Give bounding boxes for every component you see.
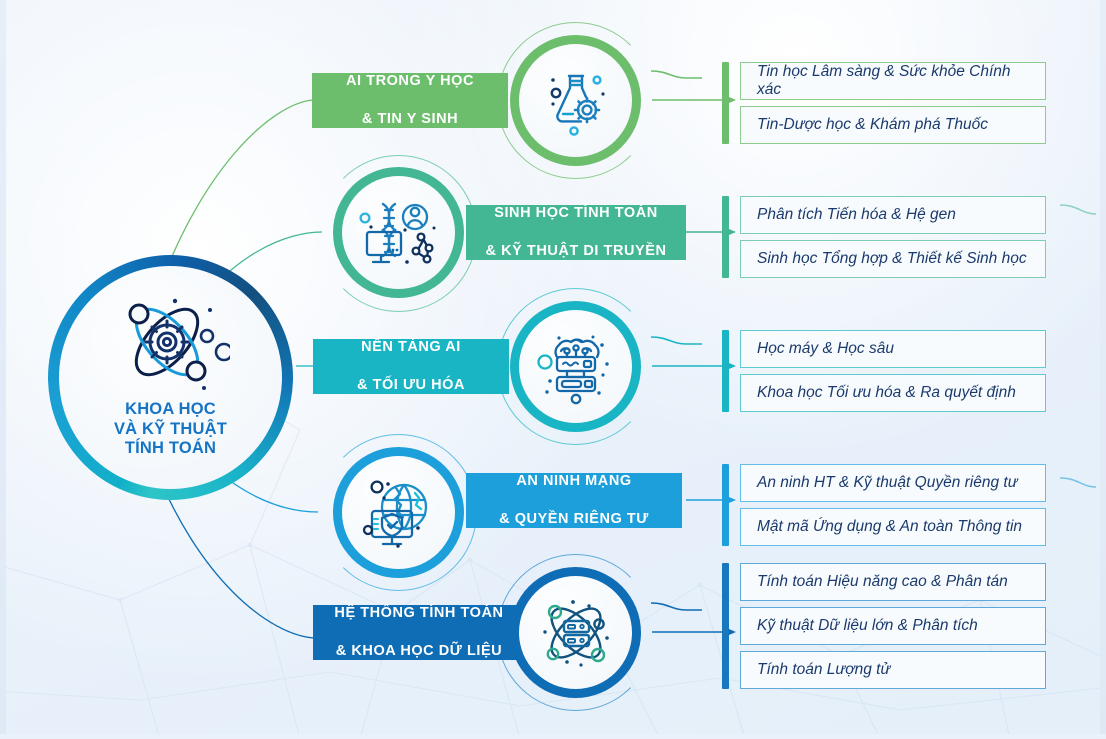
branch-3-accent-bar [722,330,729,412]
branch-5-label-line-2: & KHOA HỌC DỮ LIỆU [329,642,509,661]
branch-2-items: Phân tích Tiến hóa & Hệ gen Sinh học Tổn… [722,196,1046,278]
branch-2-label-line-2: & KỸ THUẬT DI TRUYỀN [482,242,670,261]
branch-2-accent-bar [722,196,729,278]
branch-3-label-line-2: & TỐI ƯU HÓA [329,376,493,395]
infographic-canvas: KHOA HỌC VÀ KỸ THUẬT TÍNH TOÁN AI TRONG … [0,0,1106,739]
arrow-curve-3 [651,337,702,344]
branch-2-node[interactable] [333,167,464,298]
branch-3-items: Học máy & Học sâu Khoa học Tối ưu hóa & … [722,330,1046,412]
branch-3-item-2[interactable]: Khoa học Tối ưu hóa & Ra quyết định [740,374,1046,412]
branch-1-label-plate[interactable]: AI TRONG Y HỌC & TIN Y SINH [312,73,508,128]
branch-5-node-inner [519,576,632,689]
branch-4-label-plate[interactable]: AN NINH MẠNG & QUYỀN RIÊNG TƯ [466,473,682,528]
branch-4-label-line-2: & QUYỀN RIÊNG TƯ [482,510,666,529]
branch-4-item-1[interactable]: An ninh HT & Kỹ thuật Quyền riêng tư [740,464,1046,502]
dna-monitor-icon [359,196,439,270]
arrow-curve-2 [1060,205,1096,214]
branch-1-item-1[interactable]: Tin học Lâm sàng & Sức khỏe Chính xác [740,62,1046,100]
branch-5-accent-bar [722,563,729,689]
branch-1-node[interactable] [510,35,641,166]
branch-5-items: Tính toán Hiệu năng cao & Phân tán Kỹ th… [722,563,1046,689]
hub-title-line-1: KHOA HỌC [114,400,227,419]
branch-5-item-3[interactable]: Tính toán Lượng tử [740,651,1046,689]
central-hub-inner: KHOA HỌC VÀ KỸ THUẬT TÍNH TOÁN [59,266,282,489]
hub-title-line-2: VÀ KỸ THUẬT [114,420,227,439]
branch-1-accent-bar [722,62,729,144]
branch-3-item-1[interactable]: Học máy & Học sâu [740,330,1046,368]
branch-5-item-2[interactable]: Kỹ thuật Dữ liệu lớn & Phân tích [740,607,1046,645]
branch-3-node-inner [519,310,632,423]
branch-2-node-inner [342,176,455,289]
branch-5-label-line-1: HỆ THỐNG TÍNH TOÁN [329,604,509,623]
branch-1-node-inner [519,44,632,157]
branch-4-label-line-1: AN NINH MẠNG [482,472,666,491]
branch-1-label-line-1: AI TRONG Y HỌC [328,72,492,91]
branch-4-node-inner [342,456,455,569]
branch-3-node[interactable] [510,301,641,432]
arrow-curve-5 [651,603,702,610]
branch-4-items: An ninh HT & Kỹ thuật Quyền riêng tư Mật… [722,464,1046,546]
branch-3-label-plate[interactable]: NỀN TẢNG AI & TỐI ƯU HÓA [313,339,509,394]
arrow-curve-4 [1060,478,1096,487]
branch-5-node[interactable] [510,567,641,698]
branch-4-item-2[interactable]: Mật mã Ứng dụng & An toàn Thông tin [740,508,1046,546]
branch-5-label-plate[interactable]: HỆ THỐNG TÍNH TOÁN & KHOA HỌC DỮ LIỆU [313,605,525,660]
hub-title-line-3: TÍNH TOÁN [114,439,227,458]
hub-title: KHOA HỌC VÀ KỸ THUẬT TÍNH TOÁN [114,400,227,458]
branch-2-label-plate[interactable]: SINH HỌC TÍNH TOÁN & KỸ THUẬT DI TRUYỀN [466,205,686,260]
branch-4-node[interactable] [333,447,464,578]
branch-1-items: Tin học Lâm sàng & Sức khỏe Chính xác Ti… [722,62,1046,144]
flask-gear-icon [539,64,613,138]
atom-server-icon [537,594,615,672]
shield-monitor-globe-icon [360,476,438,550]
branch-1-item-2[interactable]: Tin-Dược học & Khám phá Thuốc [740,106,1046,144]
branch-1-label-line-2: & TIN Y SINH [328,110,492,129]
branch-5-item-1[interactable]: Tính toán Hiệu năng cao & Phân tán [740,563,1046,601]
branch-2-item-1[interactable]: Phân tích Tiến hóa & Hệ gen [740,196,1046,234]
branch-2-item-2[interactable]: Sinh học Tổng hợp & Thiết kế Sinh học [740,240,1046,278]
branch-3-label-line-1: NỀN TẢNG AI [329,338,493,357]
arrow-curve-1 [651,71,702,78]
atom-gear-icon [112,292,230,396]
central-hub[interactable]: KHOA HỌC VÀ KỸ THUẬT TÍNH TOÁN [48,255,293,500]
branch-4-accent-bar [722,464,729,546]
branch-2-label-line-1: SINH HỌC TÍNH TOÁN [482,204,670,223]
brain-server-icon [537,329,615,405]
